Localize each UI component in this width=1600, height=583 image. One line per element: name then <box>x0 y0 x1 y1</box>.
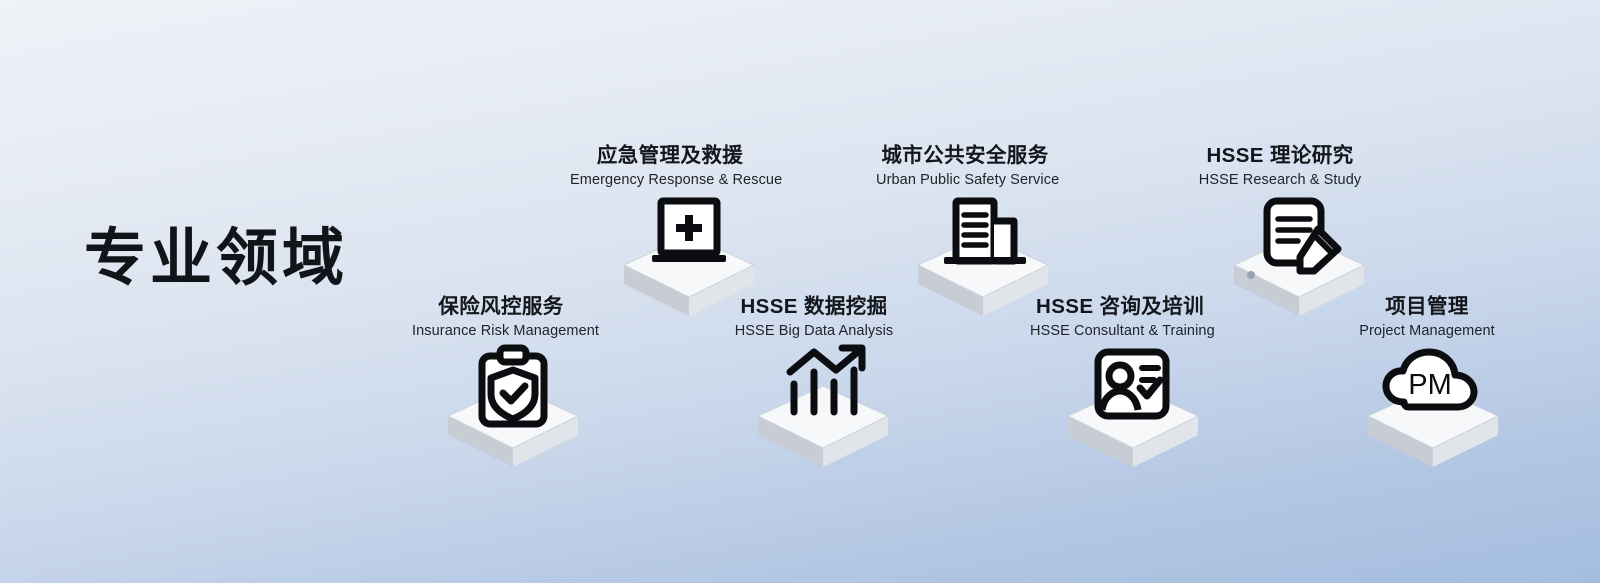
cloud-pm-icon: PM <box>1348 350 1518 470</box>
domain-item-hsse-consultant-training[interactable]: HSSE 咨询及培训 HSSE Consultant & Training <box>1030 295 1210 470</box>
bar-chart-trend-arrow-icon <box>738 350 908 470</box>
domain-title-en: Project Management <box>1348 322 1506 341</box>
label-group: 城市公共安全服务 Urban Public Safety Service <box>876 144 1054 189</box>
icon-platform <box>428 350 598 470</box>
domain-title-en: Insurance Risk Management <box>412 322 590 341</box>
domain-title-cn: 项目管理 <box>1348 295 1506 319</box>
domain-title-cn: HSSE 理论研究 <box>1190 144 1370 168</box>
platform-3d <box>758 386 888 467</box>
domain-title-en: HSSE Consultant & Training <box>1030 322 1210 341</box>
domain-item-urban-public-safety-service[interactable]: 城市公共安全服务 Urban Public Safety Service <box>876 144 1054 319</box>
domain-item-hsse-big-data-analysis[interactable]: HSSE 数据挖掘 HSSE Big Data Analysis <box>728 295 900 470</box>
buildings-glyph <box>944 201 1026 264</box>
domain-item-hsse-research-study[interactable]: HSSE 理论研究 HSSE Research & Study <box>1190 144 1370 319</box>
clipboard-shield-glyph <box>482 348 544 424</box>
person-card-glyph <box>1098 352 1166 416</box>
plus-screen-glyph <box>652 201 726 262</box>
icon-platform <box>738 350 908 470</box>
domain-title-cn: HSSE 咨询及培训 <box>1030 295 1210 319</box>
label-group: HSSE 咨询及培训 HSSE Consultant & Training <box>1030 295 1210 340</box>
document-pencil-glyph <box>1267 201 1338 271</box>
label-group: 项目管理 Project Management <box>1348 295 1506 340</box>
page-title: 专业领域 <box>84 228 348 290</box>
domain-title-en: Emergency Response & Rescue <box>570 171 770 190</box>
domain-title-en: HSSE Research & Study <box>1190 171 1370 190</box>
clipboard-shield-check-icon <box>428 350 598 470</box>
person-id-card-check-icon <box>1048 350 1218 470</box>
domain-item-insurance-risk-management[interactable]: 保险风控服务 Insurance Risk Management <box>412 295 590 470</box>
domain-title-cn: HSSE 数据挖掘 <box>728 295 900 319</box>
cloud-glyph: PM <box>1386 352 1474 407</box>
domain-title-en: HSSE Big Data Analysis <box>728 322 900 341</box>
domain-item-project-management[interactable]: 项目管理 Project Management PM <box>1348 295 1506 470</box>
domain-title-cn: 应急管理及救援 <box>570 144 770 168</box>
domain-title-cn: 城市公共安全服务 <box>876 144 1054 168</box>
label-group: 保险风控服务 Insurance Risk Management <box>412 295 590 340</box>
domain-item-emergency-response-rescue[interactable]: 应急管理及救援 Emergency Response & Rescue <box>570 144 770 319</box>
label-group: 应急管理及救援 Emergency Response & Rescue <box>570 144 770 189</box>
domain-title-en: Urban Public Safety Service <box>876 171 1054 190</box>
label-group: HSSE 理论研究 HSSE Research & Study <box>1190 144 1370 189</box>
label-group: HSSE 数据挖掘 HSSE Big Data Analysis <box>728 295 900 340</box>
icon-platform <box>1048 350 1218 470</box>
cloud-pm-label: PM <box>1408 369 1452 401</box>
icon-platform: PM <box>1348 350 1518 470</box>
professional-domains-banner: 专业领域 应急管理及救援 Emergency Response & Rescue <box>0 0 1600 583</box>
domain-title-cn: 保险风控服务 <box>412 295 590 319</box>
